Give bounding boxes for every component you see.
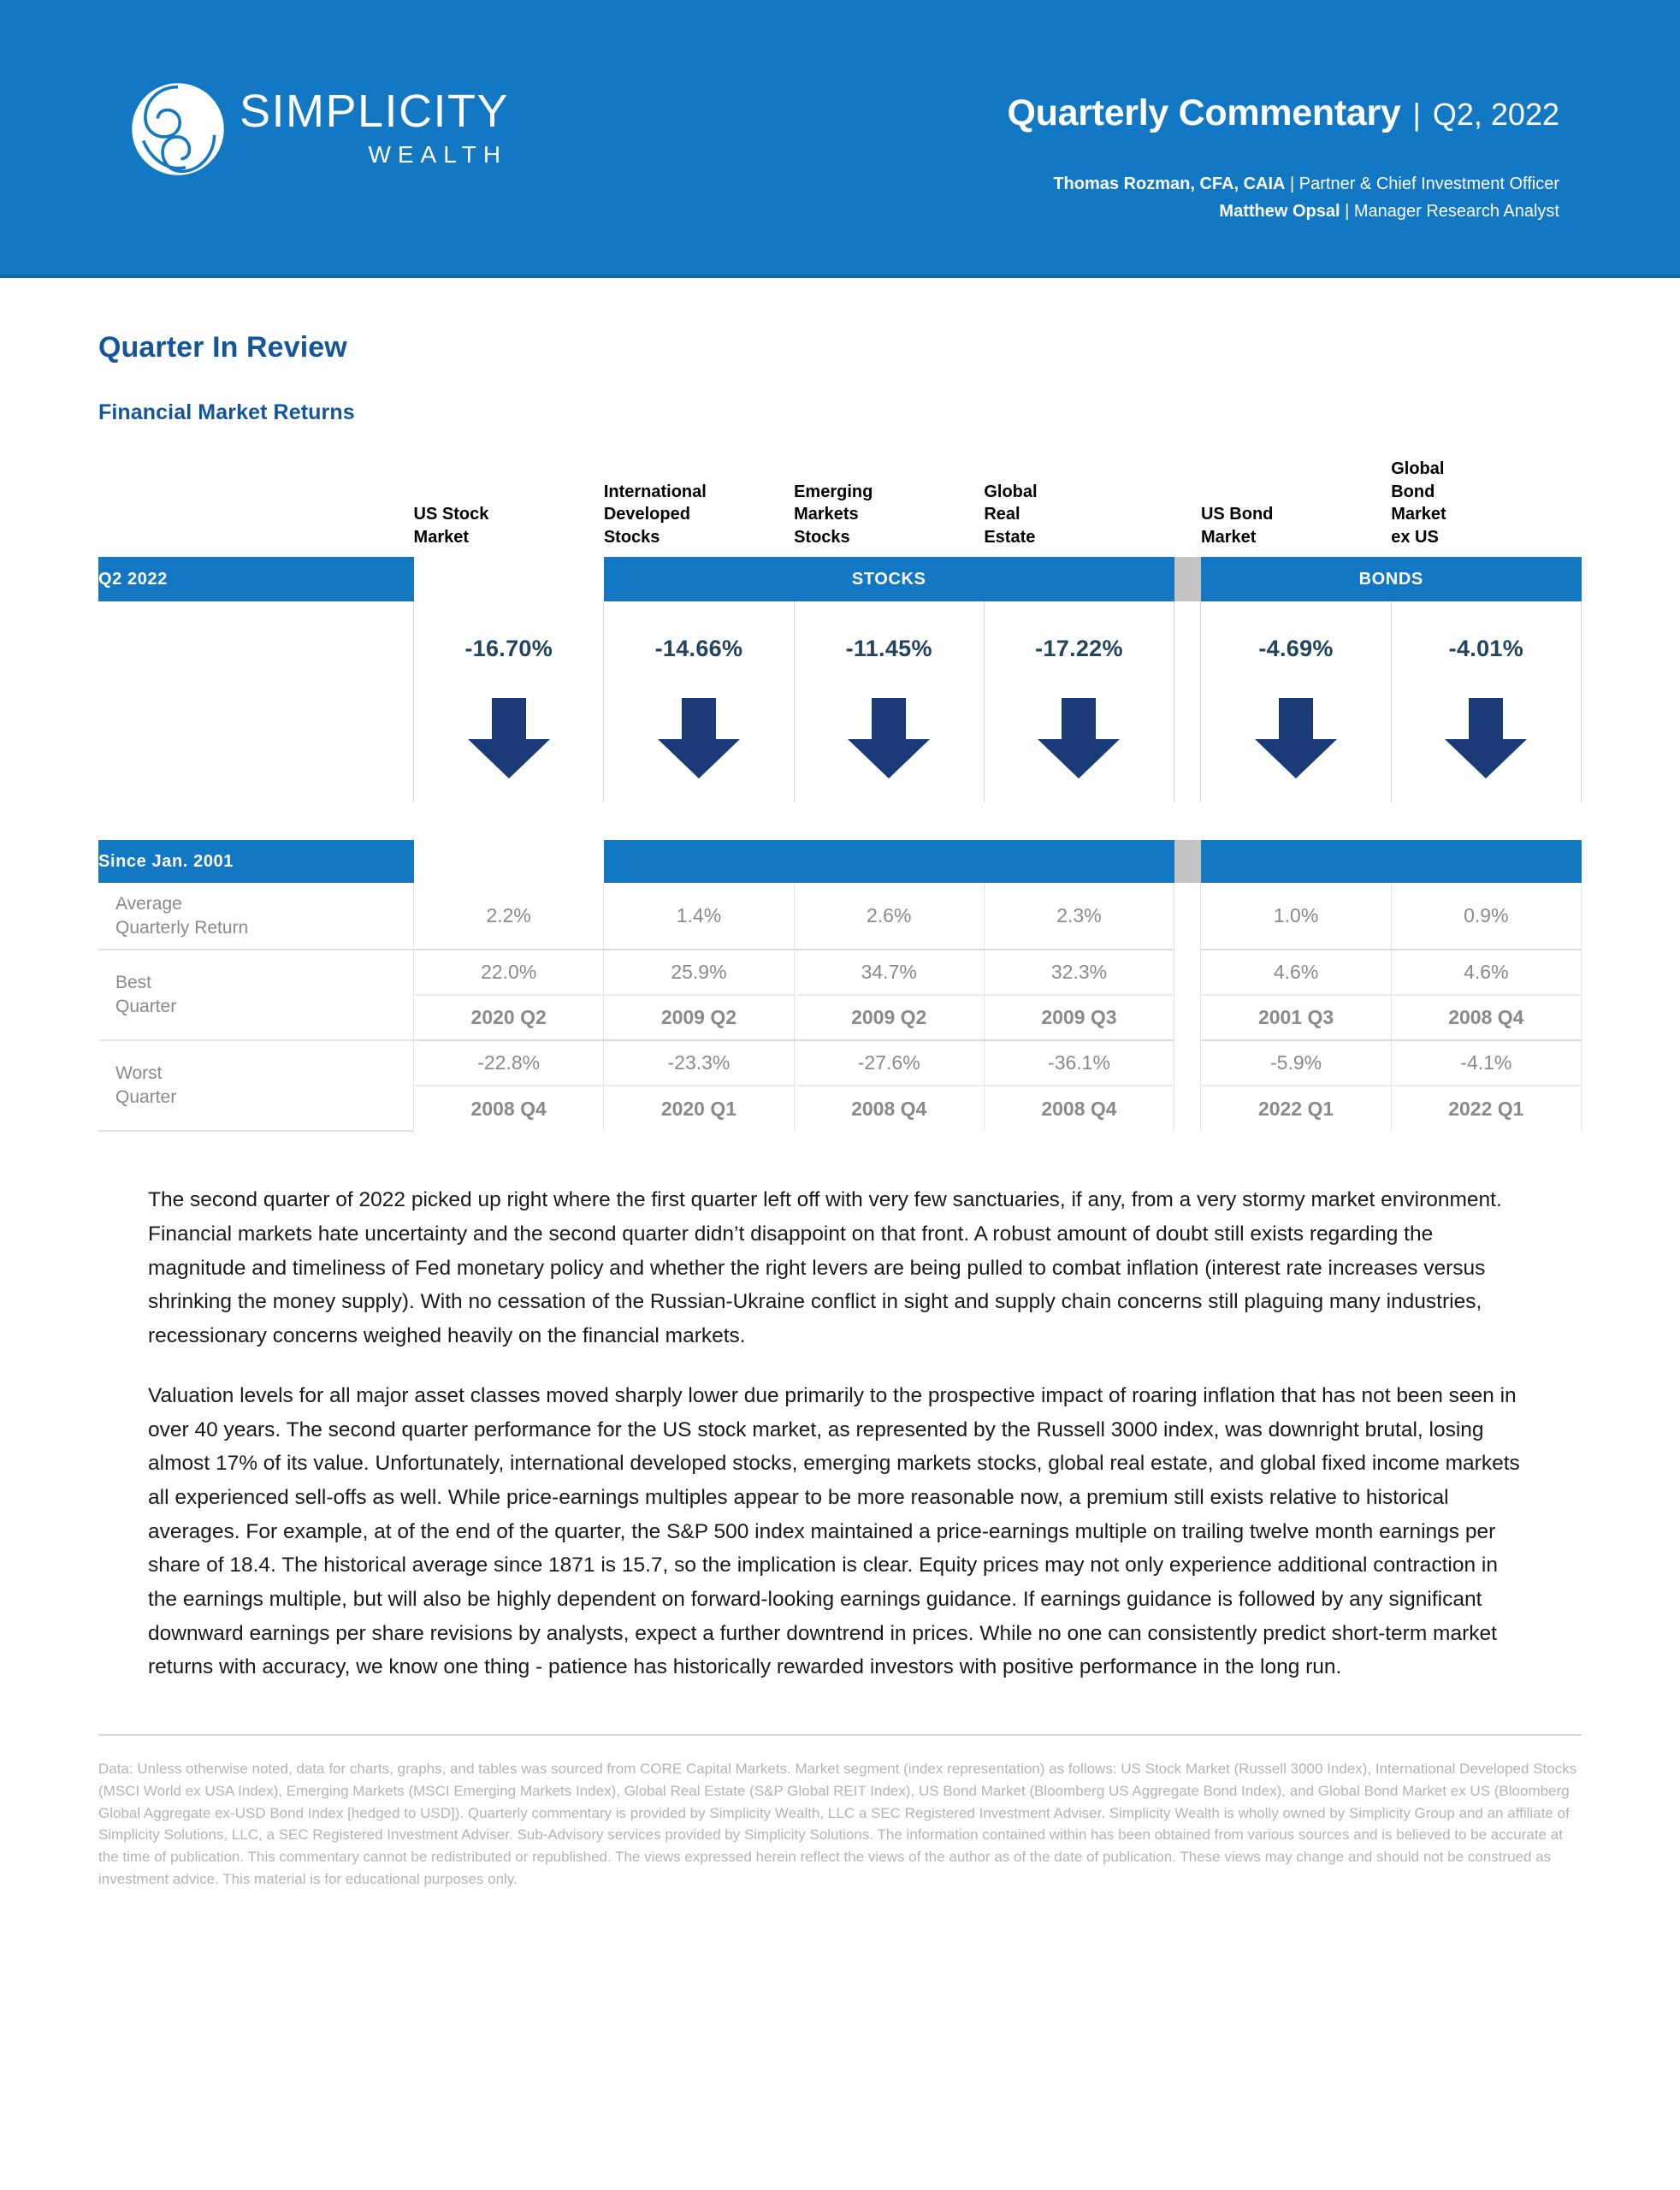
down-arrow-icon (1036, 698, 1121, 780)
q2-value: -4.01% (1392, 636, 1581, 662)
down-arrow-icon (1253, 698, 1339, 780)
corner-cell (98, 458, 414, 557)
q2-value: -4.69% (1201, 636, 1390, 662)
cell-worst-us-bond-market: -5.9% (1201, 1040, 1391, 1086)
cell-worst-period-us-bond-market: 2022 Q1 (1201, 1086, 1391, 1131)
down-arrow-icon (846, 698, 932, 780)
cell-best-period-international-developed-stocks: 2009 Q2 (604, 995, 794, 1040)
cell-worst-emerging-markets-stocks: -27.6% (794, 1040, 984, 1086)
footer-divider (98, 1734, 1582, 1736)
row-label-average-quarterly-return: Average Quarterly Return (98, 883, 414, 950)
group-gap-cell (1174, 1040, 1201, 1086)
row-label-worst-quarter: Worst Quarter (98, 1040, 414, 1131)
q2-value: -16.70% (414, 636, 603, 662)
q2-returns-table: US Stock Market International Developed … (98, 458, 1582, 802)
byline-divider: | (1340, 202, 1354, 221)
group-separator (1174, 557, 1201, 601)
cell-worst-period-emerging-markets-stocks: 2008 Q4 (794, 1086, 984, 1131)
commentary-body: The second quarter of 2022 picked up rig… (98, 1183, 1582, 1684)
cell-worst-period-global-real-estate: 2008 Q4 (984, 1086, 1174, 1131)
cell-best-period-us-stock-market: 2020 Q2 (414, 995, 604, 1040)
column-header-global-real-estate: Global Real Estate (984, 458, 1174, 557)
table-row-best-quarter-value: Best Quarter 22.0% 25.9% 34.7% 32.3% 4.6… (98, 950, 1582, 995)
cell-best-global-real-estate: 32.3% (984, 950, 1174, 995)
header-title-block: Quarterly Commentary | Q2, 2022 Thomas R… (1008, 92, 1559, 225)
down-arrow-icon (656, 698, 742, 780)
cell-best-international-developed-stocks: 25.9% (604, 950, 794, 995)
q2-cell-international-developed-stocks: -14.66% (604, 601, 794, 802)
title-separator: | (1413, 97, 1421, 133)
q2-cell-us-stock-market: -16.70% (414, 601, 604, 802)
q2-cell-us-bond-market: -4.69% (1201, 601, 1391, 802)
author-name: Thomas Rozman, CFA, CAIA (1053, 175, 1285, 193)
group-gap-cell (1174, 458, 1201, 557)
q2-value: -11.45% (795, 636, 984, 662)
footer-disclaimer: Data: Unless otherwise noted, data for c… (98, 1758, 1582, 1891)
cell-best-emerging-markets-stocks: 34.7% (794, 950, 984, 995)
simplicity-circle-logo-icon (130, 81, 226, 177)
q2-cell-global-real-estate: -17.22% (984, 601, 1174, 802)
document-body: Quarter In Review Financial Market Retur… (0, 331, 1680, 1925)
cell-avg-international-developed-stocks: 1.4% (604, 883, 794, 950)
cell-best-period-us-bond-market: 2001 Q3 (1201, 995, 1391, 1040)
cell-avg-us-bond-market: 1.0% (1201, 883, 1391, 950)
cell-best-global-bond-market-ex-us: 4.6% (1391, 950, 1581, 995)
empty-label-cell (98, 601, 414, 802)
brand-logo: SIMPLICITY WEALTH (130, 80, 509, 177)
history-period-badge: Since Jan. 2001 (98, 840, 414, 883)
column-header-global-bond-market-ex-us: Global Bond Market ex US (1391, 458, 1581, 557)
cell-best-us-bond-market: 4.6% (1201, 950, 1391, 995)
cell-worst-global-bond-market-ex-us: -4.1% (1391, 1040, 1581, 1086)
cell-avg-us-stock-market: 2.2% (414, 883, 604, 950)
author-name: Matthew Opsal (1219, 202, 1340, 221)
report-period: Q2, 2022 (1433, 97, 1559, 133)
down-arrow-icon (1443, 698, 1529, 780)
column-header-emerging-markets-stocks: Emerging Markets Stocks (794, 458, 984, 557)
bonds-group-label: BONDS (1201, 557, 1582, 601)
page-footer: Data: Unless otherwise noted, data for c… (98, 1734, 1582, 1925)
table-row-average-quarterly-return: Average Quarterly Return 2.2% 1.4% 2.6% … (98, 883, 1582, 950)
page-title: Quarterly Commentary (1008, 92, 1401, 134)
cell-best-period-global-real-estate: 2009 Q3 (984, 995, 1174, 1040)
historical-returns-table: Since Jan. 2001 Average Quarterly Return (98, 840, 1582, 1132)
cell-avg-global-bond-market-ex-us: 0.9% (1391, 883, 1581, 950)
band-divider (414, 557, 604, 601)
group-gap-cell (1174, 1086, 1201, 1131)
down-arrow-icon (466, 698, 552, 780)
cell-worst-period-international-developed-stocks: 2020 Q1 (604, 1086, 794, 1131)
cell-worst-period-global-bond-market-ex-us: 2022 Q1 (1391, 1086, 1581, 1131)
cell-avg-global-real-estate: 2.3% (984, 883, 1174, 950)
author-role: Manager Research Analyst (1354, 202, 1559, 221)
history-band-fill (794, 840, 984, 883)
q2-period-badge: Q2 2022 (98, 557, 414, 601)
commentary-paragraph-1: The second quarter of 2022 picked up rig… (148, 1183, 1529, 1352)
cell-worst-global-real-estate: -36.1% (984, 1040, 1174, 1086)
group-gap-cell (1174, 950, 1201, 995)
cell-avg-emerging-markets-stocks: 2.6% (794, 883, 984, 950)
q2-band-row: Q2 2022 STOCKS BONDS (98, 557, 1582, 601)
history-band-fill (984, 840, 1174, 883)
cell-worst-period-us-stock-market: 2008 Q4 (414, 1086, 604, 1131)
column-header-international-developed-stocks: International Developed Stocks (604, 458, 794, 557)
q2-cell-global-bond-market-ex-us: -4.01% (1391, 601, 1581, 802)
band-divider (414, 840, 604, 883)
q2-values-row: -16.70% -14.66% -11.45% (98, 601, 1582, 802)
commentary-paragraph-2: Valuation levels for all major asset cla… (148, 1379, 1529, 1684)
cell-worst-us-stock-market: -22.8% (414, 1040, 604, 1086)
column-header-us-stock-market: US Stock Market (414, 458, 604, 557)
section-heading: Quarter In Review (98, 331, 1582, 364)
brand-logo-text: SIMPLICITY WEALTH (240, 80, 509, 167)
q2-value: -14.66% (604, 636, 793, 662)
column-header-us-bond-market: US Bond Market (1201, 458, 1391, 557)
stocks-group-label: STOCKS (604, 557, 1174, 601)
byline-line-2: Matthew Opsal | Manager Research Analyst (1008, 198, 1559, 225)
page-header-band: SIMPLICITY WEALTH Quarterly Commentary |… (0, 0, 1680, 278)
byline-divider: | (1285, 175, 1298, 193)
subsection-heading: Financial Market Returns (98, 400, 1582, 425)
cell-worst-international-developed-stocks: -23.3% (604, 1040, 794, 1086)
history-band-fill (1201, 840, 1391, 883)
history-band-fill (1391, 840, 1581, 883)
q2-cell-emerging-markets-stocks: -11.45% (794, 601, 984, 802)
row-label-best-quarter: Best Quarter (98, 950, 414, 1040)
group-gap-cell (1174, 883, 1201, 950)
table-row-worst-quarter-value: Worst Quarter -22.8% -23.3% -27.6% -36.1… (98, 1040, 1582, 1086)
column-header-row: US Stock Market International Developed … (98, 458, 1582, 557)
cell-best-period-emerging-markets-stocks: 2009 Q2 (794, 995, 984, 1040)
cell-best-us-stock-market: 22.0% (414, 950, 604, 995)
author-role: Partner & Chief Investment Officer (1299, 175, 1559, 193)
history-band-fill (604, 840, 794, 883)
group-gap-cell (1174, 995, 1201, 1040)
history-band-row: Since Jan. 2001 (98, 840, 1582, 883)
brand-name: SIMPLICITY (240, 88, 509, 134)
byline-line-1: Thomas Rozman, CFA, CAIA | Partner & Chi… (1008, 170, 1559, 198)
author-byline: Thomas Rozman, CFA, CAIA | Partner & Chi… (1008, 170, 1559, 225)
brand-tagline: WEALTH (368, 143, 507, 167)
group-separator (1174, 840, 1201, 883)
cell-best-period-global-bond-market-ex-us: 2008 Q4 (1391, 995, 1581, 1040)
q2-value: -17.22% (985, 636, 1174, 662)
document-page: SIMPLICITY WEALTH Quarterly Commentary |… (0, 0, 1680, 2190)
group-gap-cell (1174, 601, 1201, 802)
